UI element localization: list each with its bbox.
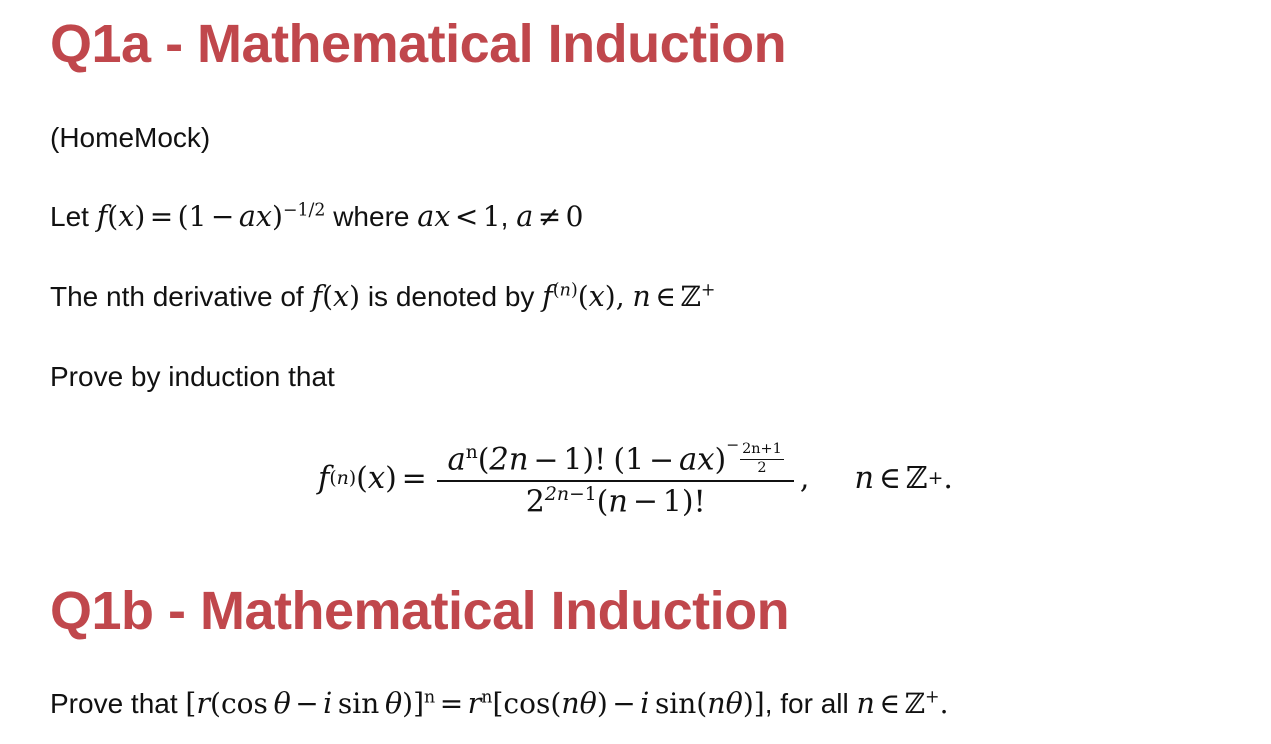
bracket-close: ]: [413, 687, 424, 720]
final-plus: +: [925, 687, 940, 707]
number-one: 1: [189, 200, 207, 233]
paren-close-2: ): [272, 200, 283, 233]
equation-comma: ,: [800, 461, 855, 496]
exponent-frac-denominator: 2: [755, 460, 768, 477]
paren-close-6: ): [597, 687, 608, 720]
minus-3: −: [291, 687, 323, 720]
paren-open-7: (: [696, 687, 707, 720]
eq-f: f: [318, 461, 329, 496]
symbol-r: r: [196, 686, 210, 720]
num-minus-2: −: [644, 443, 679, 478]
comma-1: ,: [501, 201, 509, 232]
symbol-x: x: [118, 199, 134, 233]
equals-2: =: [435, 687, 467, 720]
sin-label-2: sin: [655, 687, 696, 720]
less-than-sign: <: [450, 200, 482, 233]
final-element-of: ∈: [875, 687, 905, 720]
paren-open-6: (: [550, 687, 561, 720]
page-title-q1a: Q1a - Mathematical Induction: [50, 16, 786, 73]
equals-sign: =: [145, 200, 177, 233]
den-exp-2n: 2n: [545, 483, 569, 505]
paren-close-5: ): [402, 687, 413, 720]
paren-open-4: (: [578, 280, 589, 313]
paren-close-4: ): [605, 280, 616, 313]
source-label: (HomeMock): [50, 120, 210, 155]
eq-x: x: [368, 461, 385, 496]
symbol-x-3: x: [434, 199, 450, 233]
let-prefix: Let: [50, 201, 97, 232]
num-factorial: !: [594, 443, 606, 478]
exponent-negative-half: −1/2: [283, 200, 326, 220]
plus-superscript: +: [701, 280, 716, 300]
den-one: 1: [663, 484, 682, 519]
eq-paren-open: (: [356, 461, 368, 496]
bracket-open-2: [: [492, 687, 503, 720]
n-theta-2: n: [707, 686, 725, 720]
theta-2: θ: [385, 686, 402, 720]
num-two-n: 2n: [489, 443, 528, 478]
prove-that-prefix: Prove that: [50, 688, 185, 719]
symbol-f-3: f: [542, 279, 553, 313]
num-paren-close-2: ): [714, 443, 726, 478]
not-equal-sign: ≠: [533, 200, 565, 233]
exponent-minus-sign: −: [726, 436, 739, 454]
final-n: n: [857, 686, 875, 720]
den-paren-open: (: [597, 484, 609, 519]
main-fraction: an(2n−1)! (1−ax)−2n+12 22n−1(n−1)!: [437, 437, 794, 520]
symbol-x-5: x: [589, 279, 605, 313]
paren-open-5: (: [210, 687, 221, 720]
symbol-n: n: [632, 279, 650, 313]
de-moivre-line: Prove that [r(cos θ−i sin θ)]n=rn[cos(nθ…: [50, 686, 948, 722]
eq-sup-paren-open: (: [329, 468, 336, 489]
num-a: a: [447, 443, 465, 478]
cos-label-2: cos: [503, 687, 550, 720]
num-paren-open: (: [478, 443, 490, 478]
eq-sup-paren-close: ): [349, 468, 356, 489]
bracket-open: [: [185, 687, 196, 720]
den-exponent: 2n−1: [545, 484, 597, 505]
eq-tail-period: .: [943, 461, 953, 496]
for-all-label: , for all: [765, 688, 857, 719]
exponent-fraction: 2n+12: [740, 442, 784, 476]
element-of-sign: ∈: [651, 280, 681, 313]
number-one-2: 1: [483, 200, 501, 233]
paren-open: (: [107, 200, 118, 233]
nth-derivative-line: The nth derivative of f(x) is denoted by…: [50, 279, 715, 315]
den-n: n: [608, 484, 628, 519]
symbol-f-2: f: [311, 279, 322, 313]
eq-tail-n: n: [854, 461, 874, 496]
where-label: where: [333, 201, 409, 232]
exponent-value: 1/2: [297, 200, 325, 220]
fraction-denominator: 22n−1(n−1)!: [515, 482, 716, 520]
den-minus: −: [628, 484, 663, 519]
eq-paren-close: ): [385, 461, 397, 496]
symbol-f: f: [97, 199, 108, 233]
sup-n: n: [560, 280, 571, 300]
num-one: 1: [563, 443, 582, 478]
sin-label: sin: [338, 687, 379, 720]
function-definition-line: Let f(x)=(1−ax)−1/2 where ax<1, a≠0: [50, 199, 583, 235]
den-paren-close: ): [682, 484, 694, 519]
symbol-a: a: [239, 199, 256, 233]
paren-close-7: ): [743, 687, 754, 720]
symbol-i: i: [323, 686, 332, 720]
num-paren-close: ): [582, 443, 594, 478]
den-two: 2: [526, 484, 545, 519]
cos-label: cos: [221, 687, 268, 720]
sup-paren-open: (: [553, 280, 560, 300]
num-a-exponent-n: n: [466, 442, 478, 463]
comma-2: ,: [616, 280, 625, 313]
integers-symbol: ℤ: [680, 280, 700, 313]
superscript-n-paren: (n): [553, 280, 578, 300]
num-a-2: a: [679, 443, 697, 478]
num-paren-open-2: (: [613, 443, 625, 478]
page-title-q1b: Q1b - Mathematical Induction: [50, 583, 789, 640]
symbol-i-2: i: [640, 686, 649, 720]
eq-tail-integers: ℤ: [906, 461, 928, 496]
minus-sign: −: [206, 200, 238, 233]
den-factorial: !: [694, 484, 706, 519]
symbol-r-2: r: [468, 686, 482, 720]
den-exp-minus: −: [569, 484, 585, 505]
slide-page: Q1a - Mathematical Induction (HomeMock) …: [0, 0, 1271, 744]
eq-sup-n: n: [337, 467, 349, 489]
symbol-a-2: a: [417, 199, 434, 233]
eq-tail-element-of: ∈: [874, 461, 906, 496]
prove-by-induction-line: Prove by induction that: [50, 359, 335, 394]
symbol-x-2: x: [256, 199, 272, 233]
nth-mid: is denoted by: [360, 281, 542, 312]
theta-4: θ: [726, 686, 743, 720]
number-zero: 0: [566, 200, 584, 233]
paren-close: ): [134, 200, 145, 233]
exponent-minus: −: [283, 200, 298, 220]
equation-row: f(n)(x)= an(2n−1)! (1−ax)−2n+12 22n−1(n−…: [318, 437, 953, 520]
fraction-numerator: an(2n−1)! (1−ax)−2n+12: [437, 437, 794, 482]
den-exp-one: 1: [585, 484, 597, 505]
symbol-a-3: a: [516, 199, 533, 233]
num-x: x: [697, 443, 714, 478]
paren-open-2: (: [178, 200, 189, 233]
final-integers: ℤ: [905, 687, 925, 720]
eq-f-superscript-n: (n): [329, 467, 356, 489]
paren-close-3: ): [349, 280, 360, 313]
nth-prefix: The nth derivative of: [50, 281, 311, 312]
minus-4: −: [608, 687, 640, 720]
final-period: .: [940, 687, 949, 720]
eq-tail-plus: +: [928, 468, 944, 489]
eq-equals: =: [397, 461, 432, 496]
r-exponent-n: n: [481, 687, 492, 707]
theta-1: θ: [274, 686, 291, 720]
bracket-close-2: ]: [754, 687, 765, 720]
n-theta-1: n: [561, 686, 579, 720]
theta-3: θ: [580, 686, 597, 720]
num-minus: −: [529, 443, 564, 478]
sup-paren-close: ): [571, 280, 578, 300]
paren-open-3: (: [322, 280, 333, 313]
bracket-exponent-n: n: [424, 687, 435, 707]
exponent-frac-numerator: 2n+1: [740, 442, 784, 460]
display-equation: f(n)(x)= an(2n−1)! (1−ax)−2n+12 22n−1(n−…: [0, 437, 1271, 520]
symbol-x-4: x: [333, 279, 349, 313]
num-one-2: 1: [625, 443, 644, 478]
